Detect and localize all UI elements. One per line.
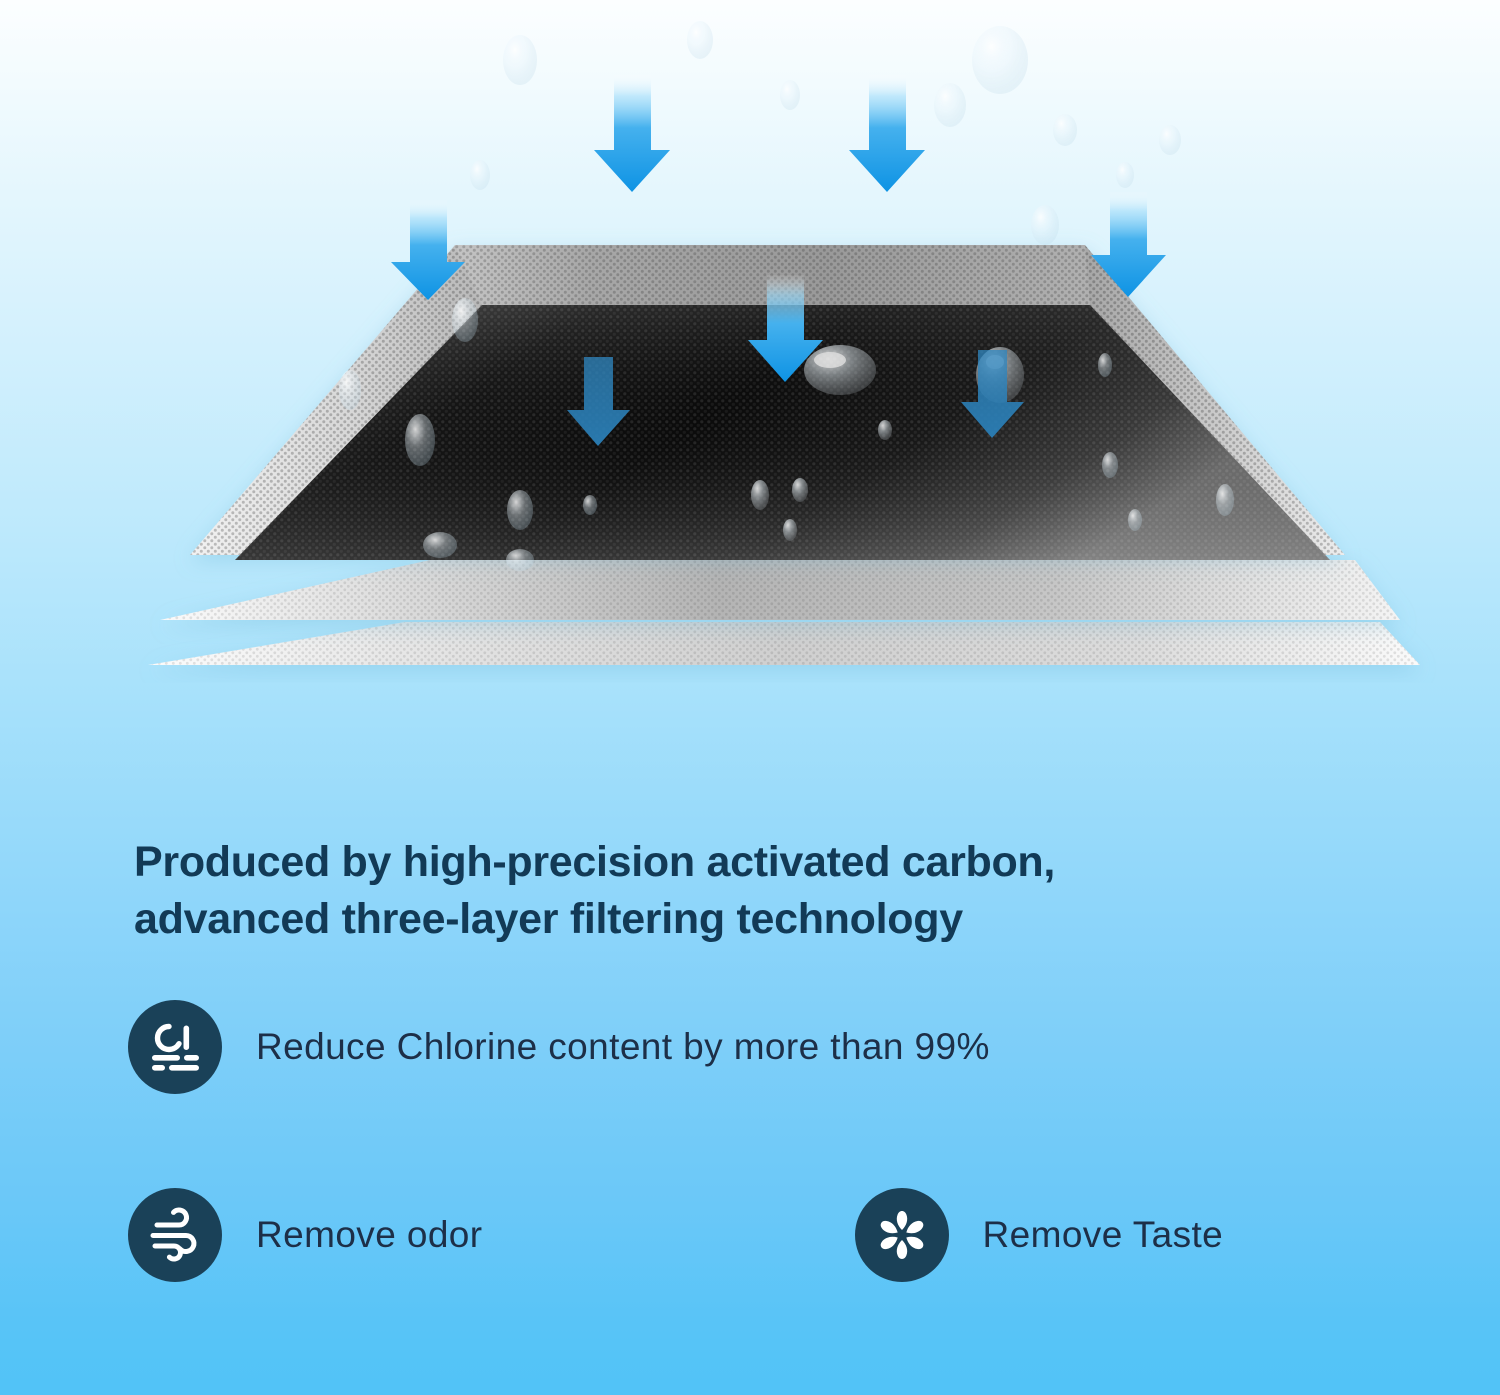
page-title: Produced by high-precision activated car…	[134, 834, 1394, 948]
filter-layer-middle	[150, 555, 1430, 625]
wind-icon	[128, 1188, 222, 1282]
feature-taste-label: Remove Taste	[983, 1214, 1224, 1256]
feature-taste: Remove Taste	[855, 1188, 1224, 1282]
chlorine-icon	[128, 1000, 222, 1094]
filter-layers-illustration	[0, 0, 1500, 700]
feature-chlorine-label: Reduce Chlorine content by more than 99%	[256, 1026, 990, 1068]
flower-icon	[855, 1188, 949, 1282]
feature-odor-label: Remove odor	[256, 1214, 483, 1256]
feature-odor: Remove odor	[128, 1188, 483, 1282]
flow-arrow	[849, 75, 925, 192]
headline-line-2: advanced three-layer filtering technolog…	[134, 891, 1394, 948]
feature-chlorine: Reduce Chlorine content by more than 99%	[128, 1000, 990, 1094]
headline-line-1: Produced by high-precision activated car…	[134, 834, 1394, 891]
filter-layer-bottom	[140, 615, 1440, 675]
feature-row-odor-taste: Remove odor	[128, 1188, 1223, 1282]
flow-arrow	[594, 75, 670, 192]
product-infographic: Produced by high-precision activated car…	[0, 0, 1500, 1395]
feature-row-chlorine: Reduce Chlorine content by more than 99%	[128, 1000, 990, 1094]
